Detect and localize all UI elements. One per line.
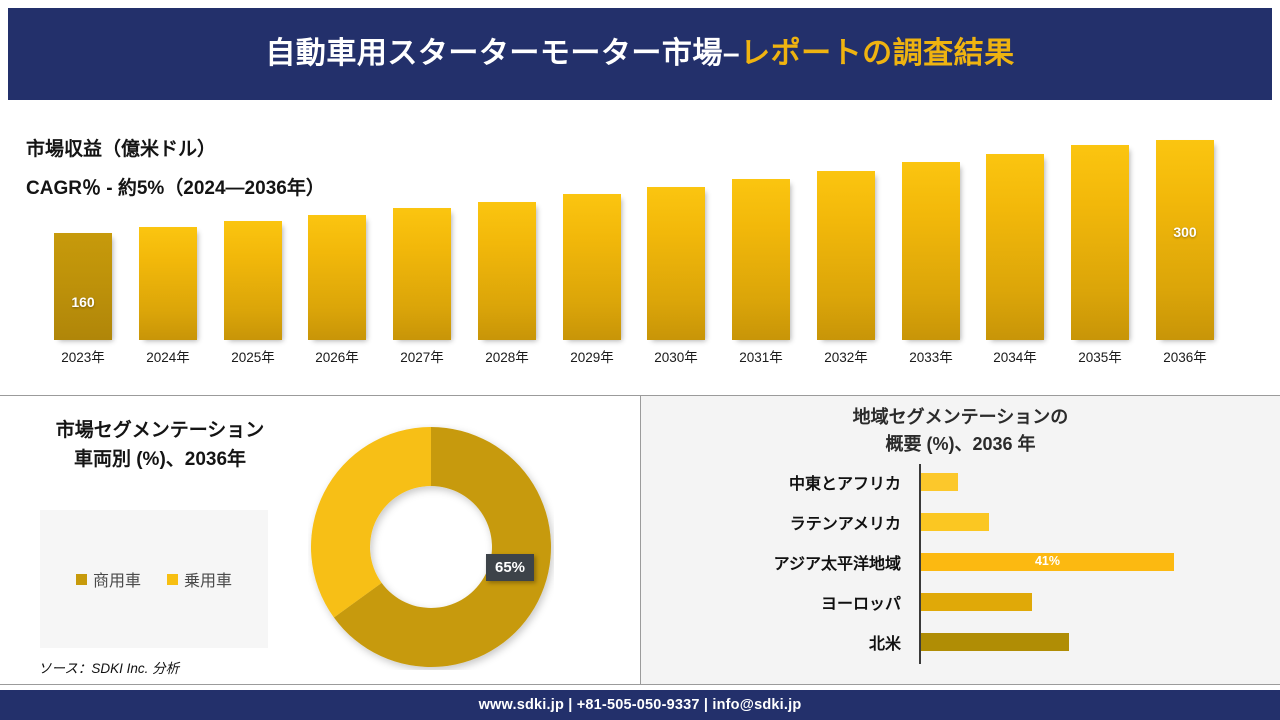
source-note: ソース：SDKI Inc. 分析 [38,657,179,677]
bar-rect-2024年 [139,227,197,340]
bar-2032年 [817,171,875,340]
infographic-page: 自動車用スターターモーター市場–レポートの調査結果 市場収益（億米ドル） CAG… [0,0,1280,720]
bar-rect-2027年 [393,208,451,340]
bar-rect-2029年 [563,194,621,340]
bar-rect-2036年: 300 [1156,140,1214,340]
vehicle-segmentation-title-line1: 市場セグメンテーション [0,416,320,445]
region-row-北米: 北米 [641,622,1280,662]
bar-rect-2032年 [817,171,875,340]
footer-contact-text: www.sdki.jp | +81-505-050-9337 | info@sd… [479,697,802,713]
region-row-中東とアフリカ: 中東とアフリカ [641,462,1280,502]
donut-chart: 65% [308,424,554,670]
vehicle-segmentation-title: 市場セグメンテーション 車両別 (%)、2036年 [0,416,320,475]
bar-rect-2030年 [647,187,705,340]
region-label-中東とアフリカ: 中東とアフリカ [641,470,913,494]
bar-rect-2034年 [986,154,1044,340]
regional-segmentation-title: 地域セグメンテーションの 概要 (%)、2036 年 [641,404,1280,458]
donut-slices [311,427,551,667]
vehicle-segmentation-panel: 市場セグメンテーション 車両別 (%)、2036年 商用車乗用車 65% ソース… [0,396,640,684]
bar-2025年 [224,221,282,340]
bar-2024年 [139,227,197,340]
bar-2029年 [563,194,621,340]
regional-segmentation-panel: 地域セグメンテーションの 概要 (%)、2036 年 中東とアフリカラテンアメリ… [641,396,1280,684]
x-axis-label-2036年: 2036年 [1156,346,1214,366]
x-axis-label-2034年: 2034年 [986,346,1044,366]
x-axis-label-2032年: 2032年 [817,346,875,366]
market-revenue-bar-chart: 160300 [54,130,1214,340]
bar-rect-2028年 [478,202,536,340]
donut-value-label: 65% [486,554,534,581]
bar-2035年 [1071,145,1129,340]
x-axis-label-2029年: 2029年 [563,346,621,366]
regional-title-line1: 地域セグメンテーションの [641,404,1280,431]
bar-2027年 [393,208,451,340]
bar-2028年 [478,202,536,340]
legend-label-商用車: 商用車 [93,567,141,591]
bar-value-2023年: 160 [54,294,112,310]
footer-divider [0,684,1280,685]
x-axis-label-2033年: 2033年 [902,346,960,366]
legend-label-乗用車: 乗用車 [184,567,232,591]
legend-swatch-icon-乗用車 [167,574,178,585]
page-title-accent: レポートの調査結果 [740,37,1015,70]
page-title-primary: 自動車用スターターモーター市場– [265,37,740,70]
bar-rect-2023年: 160 [54,233,112,340]
region-bar-ラテンアメリカ [921,513,989,531]
region-bar-アジア太平洋地域: 41% [921,553,1174,571]
region-bar-中東とアフリカ [921,473,958,491]
vehicle-segmentation-title-line2: 車両別 (%)、2036年 [0,445,320,474]
legend-swatch-icon-商用車 [76,574,87,585]
bar-rect-2025年 [224,221,282,340]
x-axis-label-2026年: 2026年 [308,346,366,366]
vehicle-segmentation-legend: 商用車乗用車 [40,510,268,648]
region-row-アジア太平洋地域: アジア太平洋地域41% [641,542,1280,582]
x-axis-label-2035年: 2035年 [1071,346,1129,366]
bar-2034年 [986,154,1044,340]
bar-2031年 [732,179,790,340]
bar-2026年 [308,215,366,340]
x-axis-label-2030年: 2030年 [647,346,705,366]
bar-value-2036年: 300 [1156,224,1214,240]
page-header: 自動車用スターターモーター市場–レポートの調査結果 [8,8,1272,100]
region-bar-value-アジア太平洋地域: 41% [921,554,1174,568]
x-axis-label-2024年: 2024年 [139,346,197,366]
regional-title-line2: 概要 (%)、2036 年 [641,431,1280,458]
bar-2023年: 160 [54,233,112,340]
bar-2030年 [647,187,705,340]
x-axis-label-2023年: 2023年 [54,346,112,366]
x-axis-label-2027年: 2027年 [393,346,451,366]
region-label-ラテンアメリカ: ラテンアメリカ [641,510,913,534]
bar-rect-2035年 [1071,145,1129,340]
page-title: 自動車用スターターモーター市場–レポートの調査結果 [265,39,1014,69]
region-label-ヨーロッパ: ヨーロッパ [641,590,913,614]
region-row-ヨーロッパ: ヨーロッパ [641,582,1280,622]
region-row-ラテンアメリカ: ラテンアメリカ [641,502,1280,542]
region-bar-ヨーロッパ [921,593,1032,611]
bar-2033年 [902,162,960,340]
donut-slice-乗用車[interactable] [311,427,431,618]
region-bar-北米 [921,633,1069,651]
bar-rect-2026年 [308,215,366,340]
legend-item-商用車[interactable]: 商用車 [76,567,141,591]
region-label-アジア太平洋地域: アジア太平洋地域 [641,550,913,574]
page-footer: www.sdki.jp | +81-505-050-9337 | info@sd… [0,690,1280,720]
market-revenue-x-axis: 2023年2024年2025年2026年2027年2028年2029年2030年… [54,346,1214,368]
x-axis-label-2031年: 2031年 [732,346,790,366]
regional-bar-chart: 中東とアフリカラテンアメリカアジア太平洋地域41%ヨーロッパ北米 [641,458,1280,670]
x-axis-label-2028年: 2028年 [478,346,536,366]
bar-rect-2033年 [902,162,960,340]
x-axis-label-2025年: 2025年 [224,346,282,366]
legend-item-乗用車[interactable]: 乗用車 [167,567,232,591]
bar-2036年: 300 [1156,140,1214,340]
donut-chart-svg [308,424,554,670]
bar-rect-2031年 [732,179,790,340]
region-label-北米: 北米 [641,630,913,654]
